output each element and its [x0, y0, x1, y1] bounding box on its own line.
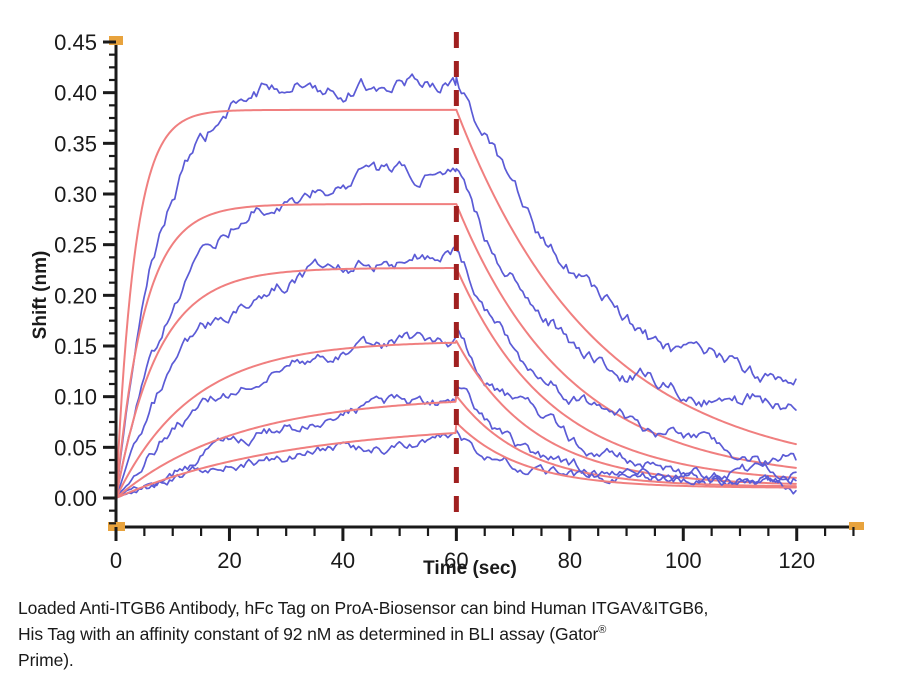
y-tick-label: 0.05: [54, 435, 97, 460]
y-tick-label: 0.30: [54, 182, 97, 207]
y-tick-label: 0.00: [54, 486, 97, 511]
y-tick-label: 0.40: [54, 81, 97, 106]
registered-mark: ®: [598, 624, 606, 636]
x-tick-label: 80: [558, 548, 582, 573]
tick-labels: 0.000.050.100.150.200.250.300.350.400.45…: [54, 30, 815, 573]
x-tick-label: 100: [665, 548, 702, 573]
x-tick-label: 40: [331, 548, 355, 573]
y-tick-label: 0.15: [54, 334, 97, 359]
y-axis-title: Shift (nm): [30, 251, 51, 340]
y-tick-label: 0.45: [54, 30, 97, 55]
y-tick-label: 0.20: [54, 283, 97, 308]
plot-curves: [116, 74, 796, 498]
data-curve-3: [116, 246, 796, 498]
y-tick-label: 0.25: [54, 233, 97, 258]
bli-sensorgram-chart: 0.000.050.100.150.200.250.300.350.400.45…: [0, 0, 900, 586]
x-axis-end-cap: [849, 522, 864, 530]
caption-line-3: Prime).: [18, 650, 74, 670]
y-tick-label: 0.10: [54, 385, 97, 410]
caption-line-1: Loaded Anti-ITGB6 Antibody, hFc Tag on P…: [18, 598, 708, 618]
x-axis-title: Time (sec): [423, 558, 517, 579]
figure-root: 0.000.050.100.150.200.250.300.350.400.45…: [0, 0, 900, 686]
x-tick-label: 0: [110, 548, 122, 573]
x-tick-label: 120: [778, 548, 815, 573]
caption-line-2: His Tag with an affinity constant of 92 …: [18, 624, 598, 644]
x-tick-label: 20: [217, 548, 241, 573]
figure-caption: Loaded Anti-ITGB6 Antibody, hFc Tag on P…: [18, 596, 882, 674]
y-tick-label: 0.35: [54, 131, 97, 156]
chart-svg: 0.000.050.100.150.200.250.300.350.400.45…: [0, 0, 900, 586]
